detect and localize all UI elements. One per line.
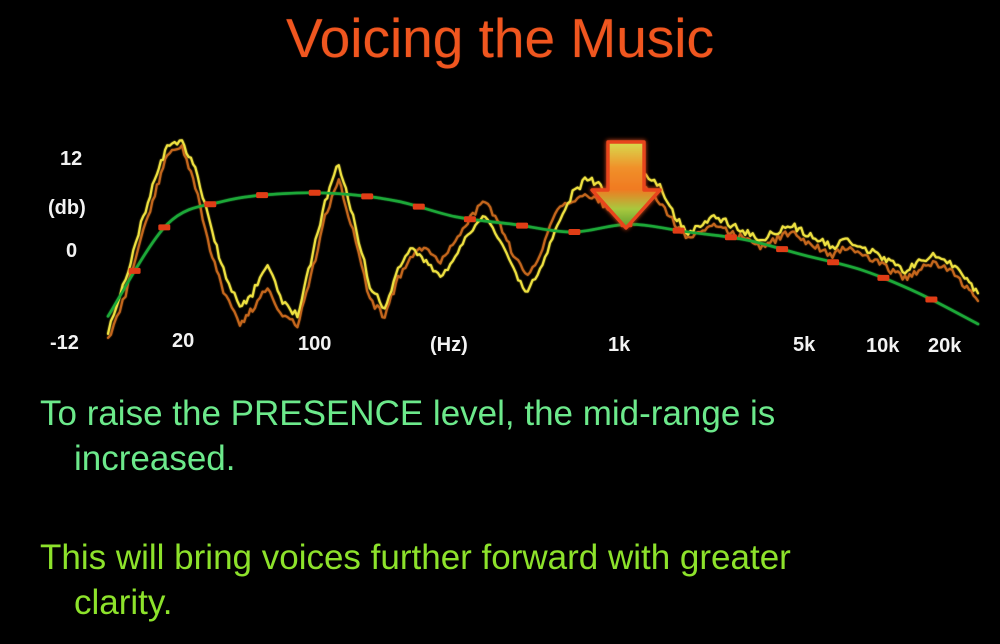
x-tick-label-1k: 1k <box>608 334 631 356</box>
eq-control-point[interactable] <box>309 190 321 196</box>
x-tick-label-100: 100 <box>298 333 331 355</box>
eq-control-point[interactable] <box>725 234 737 240</box>
paragraph-1-line-1: To raise the PRESENCE level, the mid-ran… <box>40 394 775 433</box>
y-tick-label-12: 12 <box>60 148 82 170</box>
y-axis-unit-label: (db) <box>48 197 86 219</box>
eq-control-point[interactable] <box>925 297 937 303</box>
spectrum-analyzer-chart: 12 (db) 0 -12 20 100 (Hz) 1k 5k 10k 20k <box>0 120 1000 375</box>
x-tick-label-10k: 10k <box>866 335 900 357</box>
down-arrow-icon <box>592 142 660 228</box>
eq-control-point[interactable] <box>464 216 476 222</box>
y-tick-label-0: 0 <box>66 240 77 262</box>
x-axis-unit-label: (Hz) <box>430 334 468 356</box>
slide-root: Voicing the Music <box>0 0 1000 644</box>
eq-control-point[interactable] <box>204 201 216 207</box>
eq-control-point[interactable] <box>413 204 425 210</box>
x-tick-label-20: 20 <box>172 330 194 352</box>
eq-control-point[interactable] <box>158 224 170 230</box>
eq-control-point[interactable] <box>827 259 839 265</box>
body-paragraph-1: To raise the PRESENCE level, the mid-ran… <box>40 392 970 482</box>
eq-control-point[interactable] <box>256 192 268 198</box>
spectrum-trace-yellow <box>108 140 978 334</box>
spectrum-trace-orange <box>108 145 978 338</box>
eq-control-point[interactable] <box>516 223 528 229</box>
eq-control-point[interactable] <box>877 275 889 281</box>
eq-control-point[interactable] <box>568 229 580 235</box>
x-tick-label-5k: 5k <box>793 334 816 356</box>
y-tick-label-minus12: -12 <box>50 332 79 354</box>
body-paragraph-2: This will bring voices further forward w… <box>40 536 970 626</box>
chart-svg: 12 (db) 0 -12 20 100 (Hz) 1k 5k 10k 20k <box>0 120 1000 375</box>
eq-control-point[interactable] <box>361 193 373 199</box>
x-tick-label-20k: 20k <box>928 335 962 357</box>
page-title: Voicing the Music <box>0 10 1000 68</box>
paragraph-2-line-2: clarity. <box>40 581 970 626</box>
eq-control-point[interactable] <box>776 246 788 252</box>
eq-control-point[interactable] <box>673 228 685 234</box>
eq-control-point[interactable] <box>129 268 141 274</box>
paragraph-2-line-1: This will bring voices further forward w… <box>40 538 791 577</box>
paragraph-1-line-2: increased. <box>40 437 970 482</box>
